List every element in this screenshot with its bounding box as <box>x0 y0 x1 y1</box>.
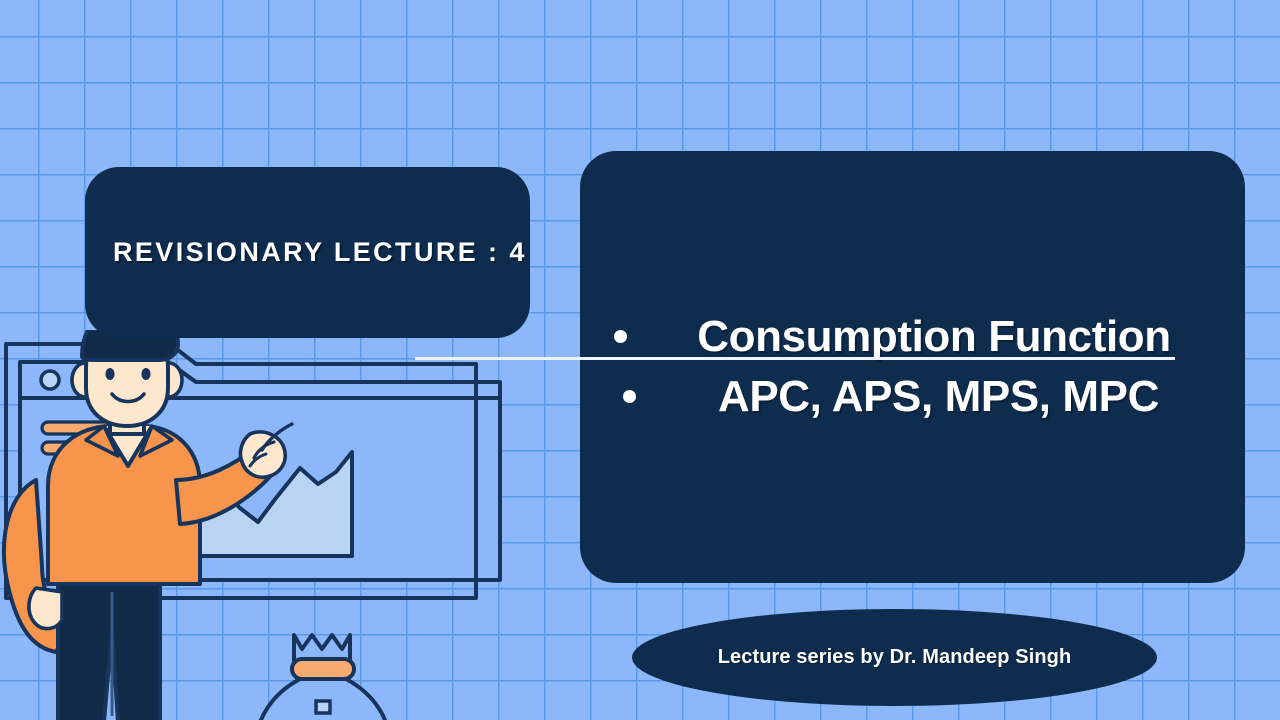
slide-canvas: REVISIONARY LECTURE : 4 Consumption Func… <box>0 0 1280 720</box>
presenter-illustration <box>0 330 560 720</box>
character-pants <box>58 576 160 720</box>
topics-panel: Consumption Function APC, APS, MPS, MPC <box>580 151 1245 583</box>
bullet-dot-icon <box>614 330 627 343</box>
lecture-credit-label: Lecture series by Dr. Mandeep Singh <box>718 646 1072 669</box>
character-eye-left <box>105 368 114 380</box>
window-dot-1 <box>41 371 59 389</box>
connector-line <box>415 357 1175 360</box>
lecture-title-label: REVISIONARY LECTURE : 4 <box>113 237 527 268</box>
lecture-title-badge: REVISIONARY LECTURE : 4 <box>85 167 530 338</box>
lecture-credit-badge: Lecture series by Dr. Mandeep Singh <box>632 609 1157 706</box>
topic-bullet-item: APC, APS, MPS, MPC <box>614 369 1219 425</box>
character-eye-right <box>141 368 150 380</box>
bullet-dot-icon <box>623 390 636 403</box>
topic-label-2: APC, APS, MPS, MPC <box>658 369 1219 425</box>
